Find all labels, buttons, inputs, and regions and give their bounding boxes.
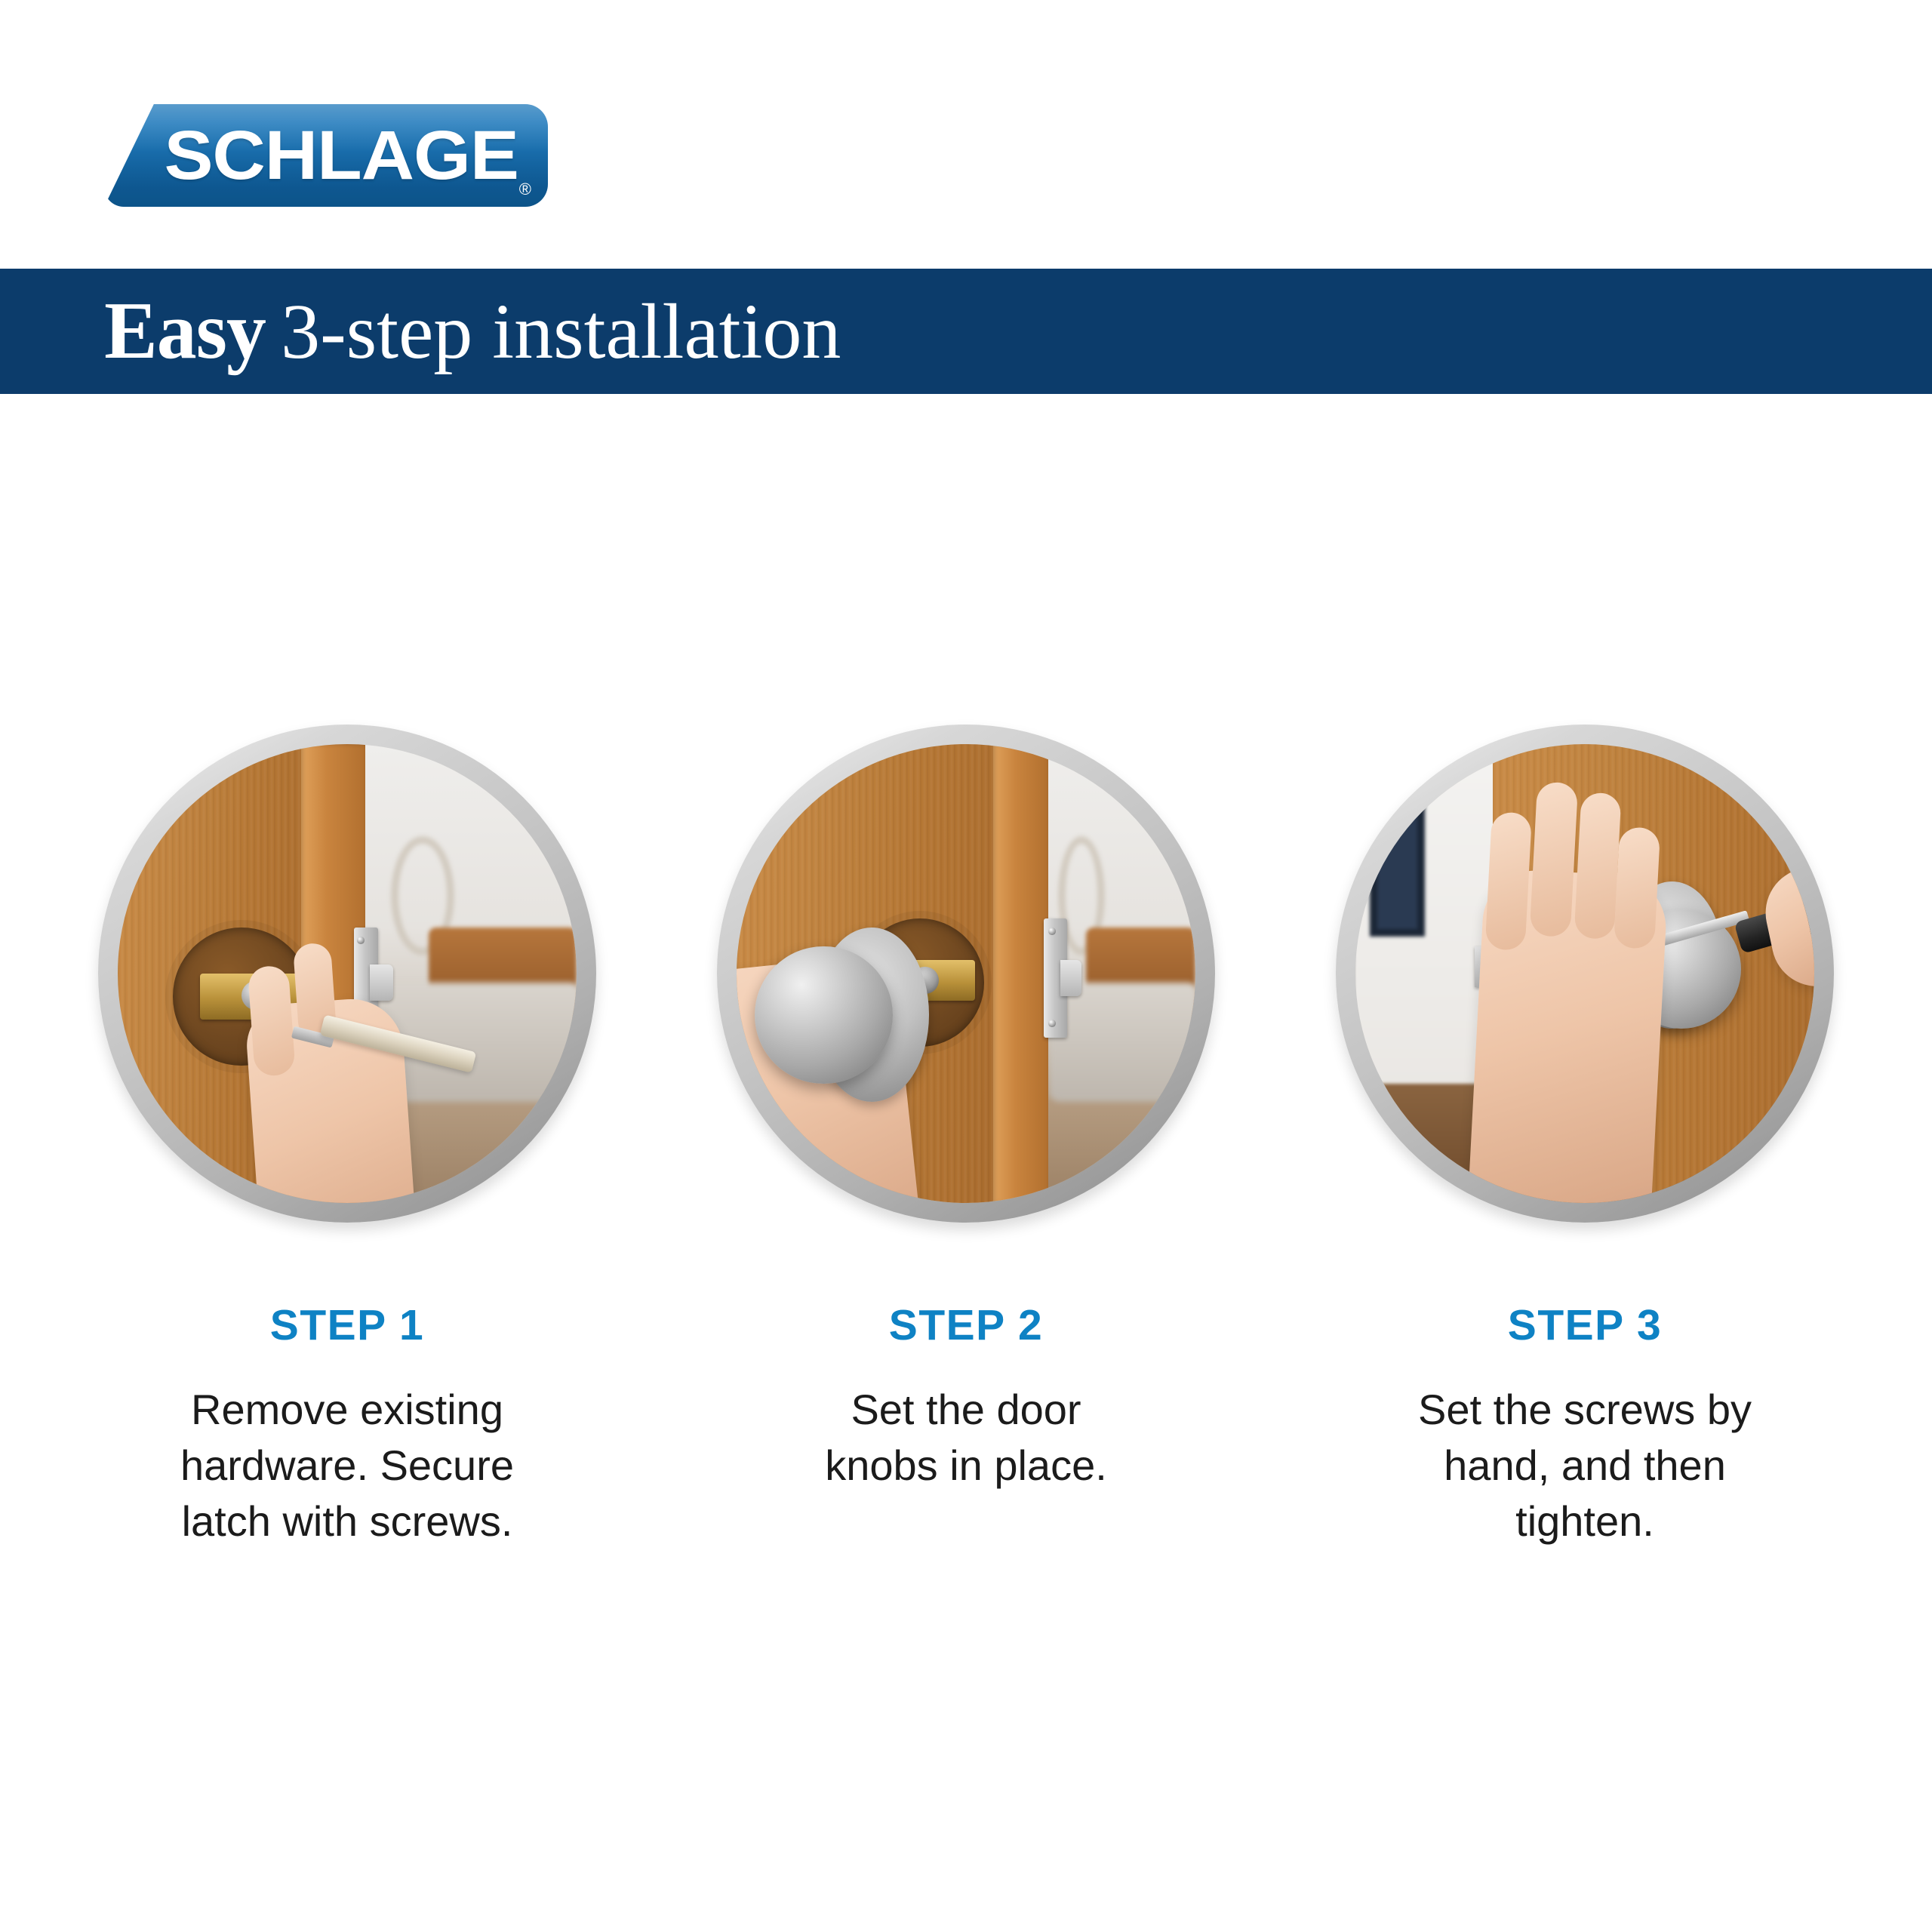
hand-3 xyxy=(1464,868,1669,1203)
screw-bottom-2 xyxy=(1048,1020,1056,1027)
headline-text-group: Easy 3-step installation xyxy=(0,291,841,372)
scene-2 xyxy=(737,744,1195,1203)
step-3-photo xyxy=(1336,724,1834,1223)
step-caption-1: Remove existing hardware. Secure latch w… xyxy=(170,1382,525,1549)
finger-2a xyxy=(777,1180,870,1203)
screw-top-2 xyxy=(1048,928,1056,935)
schlage-logo[interactable]: SCHLAGE ® xyxy=(100,100,552,211)
step-1-photo xyxy=(98,724,596,1223)
finger-3d xyxy=(1614,826,1660,949)
step-column-2: STEP 2 Set the door knobs in place. xyxy=(709,724,1223,1549)
logo-badge: SCHLAGE ® xyxy=(104,104,548,207)
bed-2 xyxy=(1049,983,1195,1102)
finger-3b xyxy=(1530,782,1578,937)
photo-image-3 xyxy=(1355,744,1814,1203)
photo-image-2 xyxy=(737,744,1195,1203)
headline-rest: 3-step installation xyxy=(281,293,841,371)
step-label-3: STEP 3 xyxy=(1508,1304,1662,1347)
step-label-1: STEP 1 xyxy=(270,1304,424,1347)
latch-bolt-2 xyxy=(1060,960,1081,997)
page-root: SCHLAGE ® Easy 3-step installation xyxy=(0,0,1932,1932)
scene-3 xyxy=(1355,744,1814,1203)
scene-1 xyxy=(118,744,577,1203)
thumb-1 xyxy=(248,965,296,1077)
latch-bolt-1 xyxy=(370,964,392,1001)
logo-wordmark: SCHLAGE xyxy=(104,104,548,207)
door-edge-2 xyxy=(993,744,1048,1203)
step-caption-2: Set the door knobs in place. xyxy=(789,1382,1143,1494)
headline-banner: Easy 3-step installation xyxy=(0,269,1932,394)
step-label-2: STEP 2 xyxy=(889,1304,1043,1347)
step-caption-3: Set the screws by hand, and then tighten… xyxy=(1407,1382,1762,1549)
step-column-3: STEP 3 Set the screws by hand, and then … xyxy=(1328,724,1841,1549)
step-column-1: STEP 1 Remove existing hardware. Secure … xyxy=(91,724,604,1549)
picture-frame-icon xyxy=(1370,781,1425,937)
photo-image-1 xyxy=(118,744,577,1203)
headline-emphasis: Easy xyxy=(104,291,266,372)
step-2-photo xyxy=(717,724,1215,1223)
finger-3a xyxy=(1484,812,1532,951)
registered-trademark-icon: ® xyxy=(519,181,531,198)
steps-row: STEP 1 Remove existing hardware. Secure … xyxy=(0,724,1932,1549)
door-knob-2 xyxy=(755,946,892,1084)
